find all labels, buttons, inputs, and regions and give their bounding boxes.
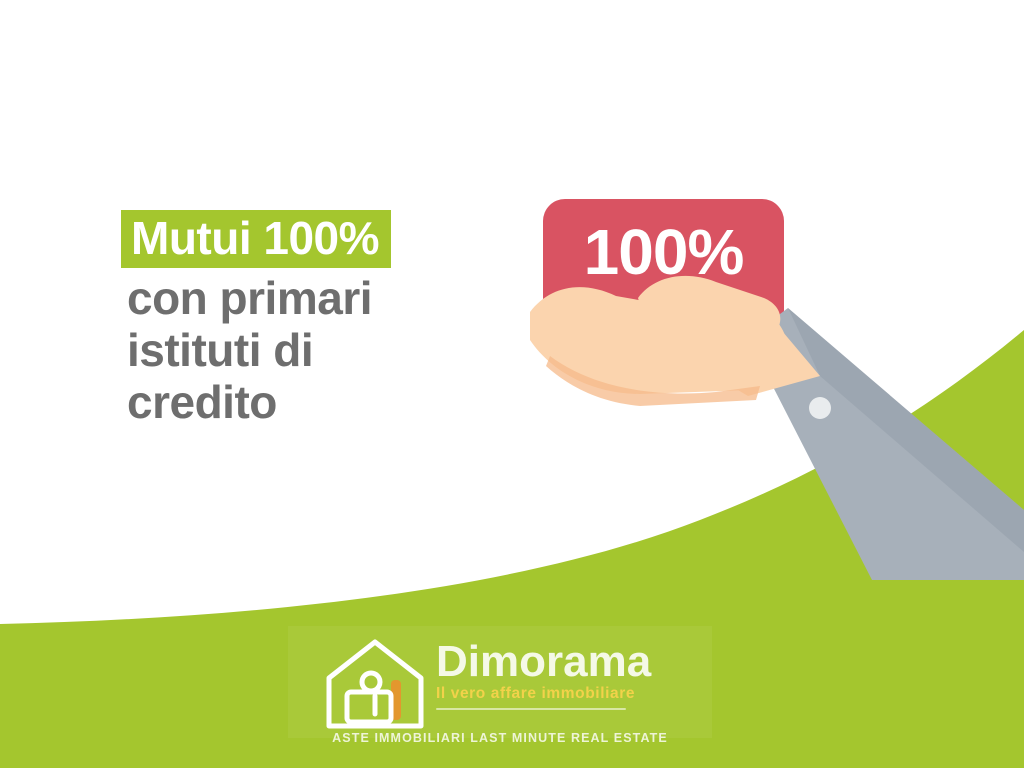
logo-divider — [436, 708, 626, 710]
logo-strapline: ASTE IMMOBILIARI LAST MINUTE REAL ESTATE — [288, 730, 712, 746]
hand-and-sleeve-graphic — [520, 180, 1024, 580]
headline-block: Mutui 100% con primari istituti di credi… — [127, 210, 527, 428]
headline-line-3: istituti di — [127, 324, 527, 376]
dimorama-logo[interactable]: Dimorama Il vero affare immobiliare ASTE… — [288, 626, 712, 768]
hand-with-card-illustration: 100% — [520, 180, 1024, 580]
headline-line-4: credito — [127, 376, 527, 428]
logo-tagline: Il vero affare immobiliare — [436, 684, 706, 704]
promo-banner: Mutui 100% con primari istituti di credi… — [0, 0, 1024, 768]
headline-line-2: con primari — [127, 272, 527, 324]
house-logo-icon — [323, 634, 428, 729]
headline-line-1: Mutui 100% — [121, 210, 391, 268]
logo-wordmark-block: Dimorama Il vero affare immobiliare — [436, 638, 706, 710]
cuff-button-icon — [809, 397, 831, 419]
logo-name: Dimorama — [436, 638, 706, 686]
